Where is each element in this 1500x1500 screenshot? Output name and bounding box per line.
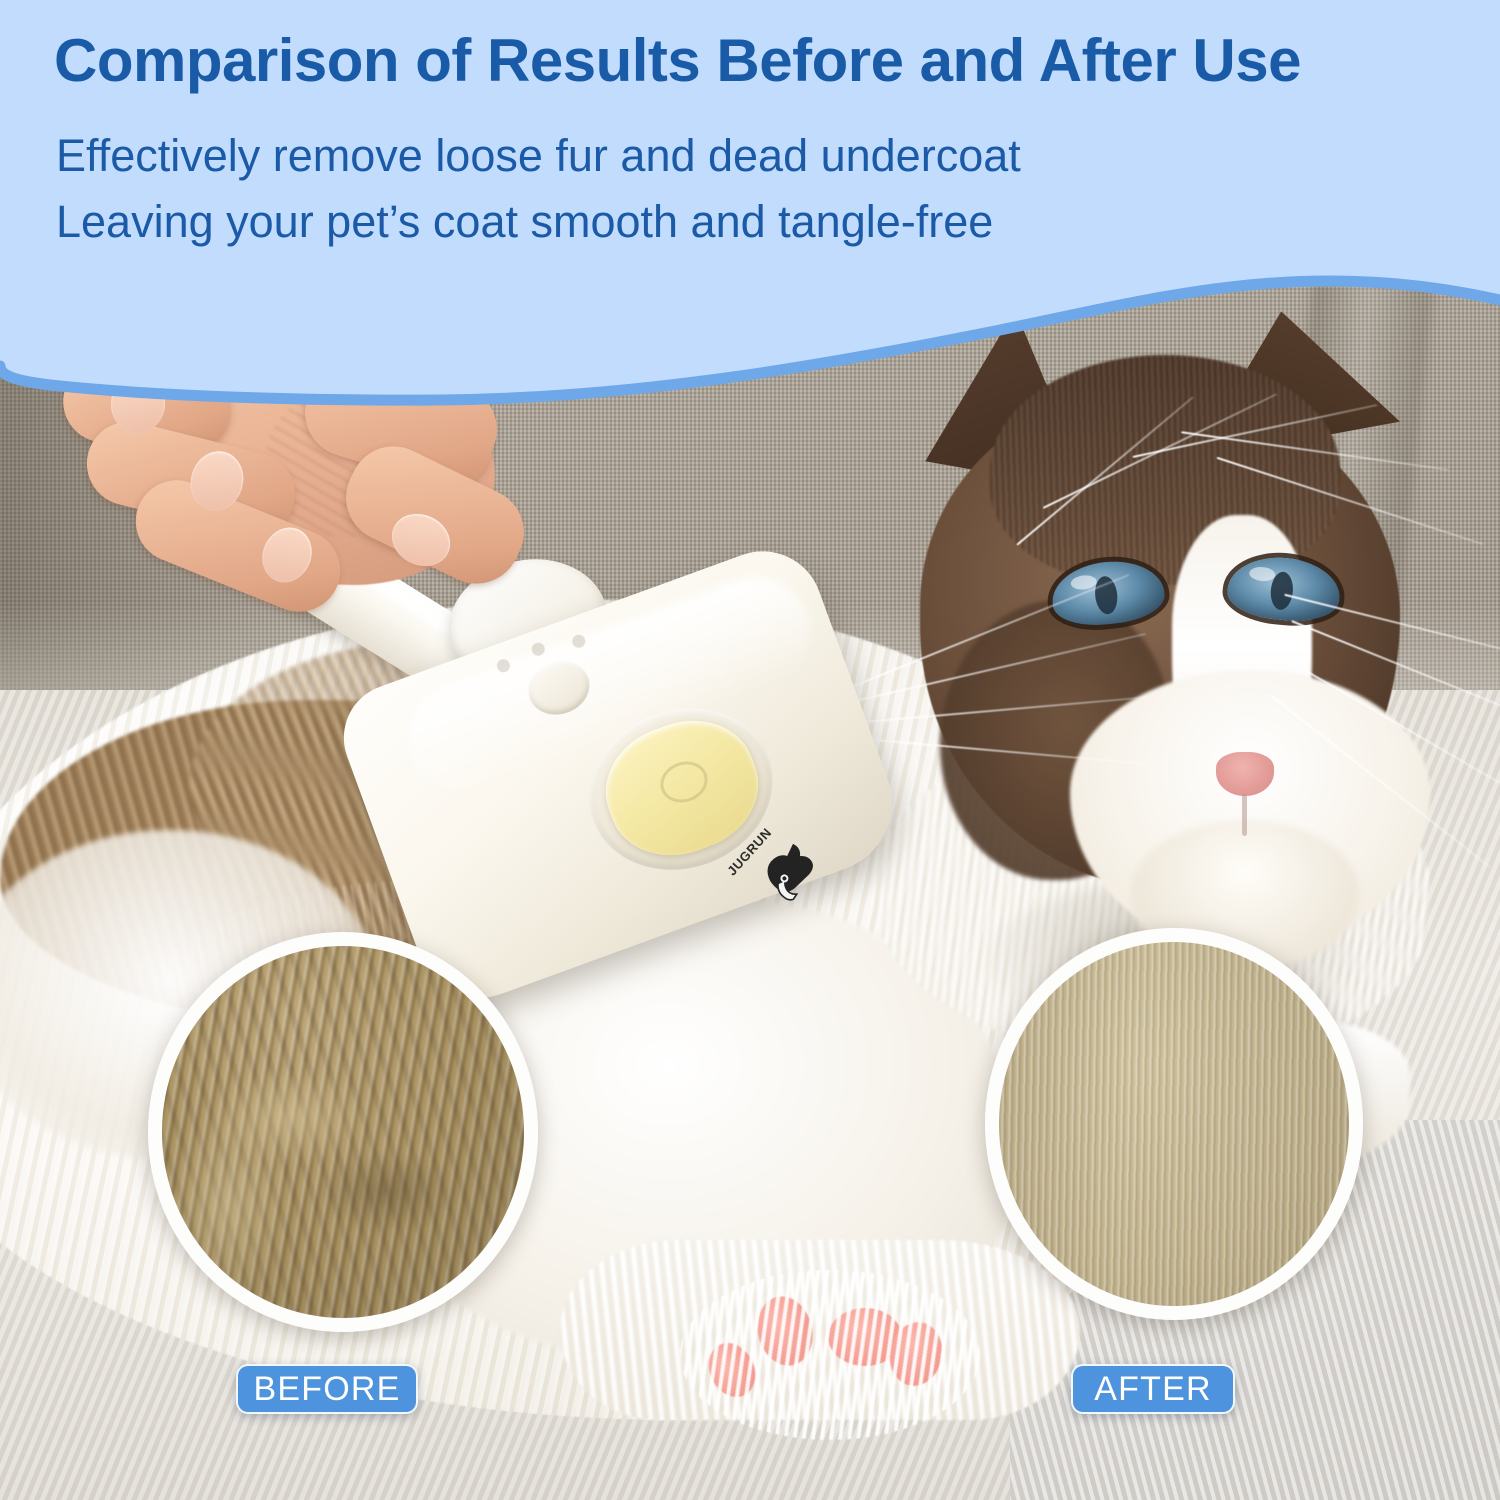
after-badge: AFTER: [1071, 1364, 1235, 1414]
page-title: Comparison of Results Before and After U…: [54, 26, 1474, 95]
before-zoom-circle: [148, 932, 538, 1332]
subtitle-line-1: Effectively remove loose fur and dead un…: [56, 130, 1021, 182]
product-infographic: JUGRUN: [0, 0, 1500, 1500]
header-banner: Comparison of Results Before and After U…: [0, 0, 1500, 430]
after-zoom-circle: [985, 928, 1363, 1320]
before-badge: BEFORE: [236, 1364, 418, 1414]
cat-toe-fur: [680, 1270, 980, 1440]
cat-eye-gleam-right: [1249, 566, 1276, 582]
cat-philtrum: [1242, 794, 1247, 836]
after-fur-texture: [985, 928, 1363, 1320]
cat-eye-gleam-left: [1070, 574, 1097, 591]
subtitle-line-2: Leaving your pet’s coat smooth and tangl…: [56, 196, 993, 248]
before-fur-tufts: [162, 946, 524, 1318]
